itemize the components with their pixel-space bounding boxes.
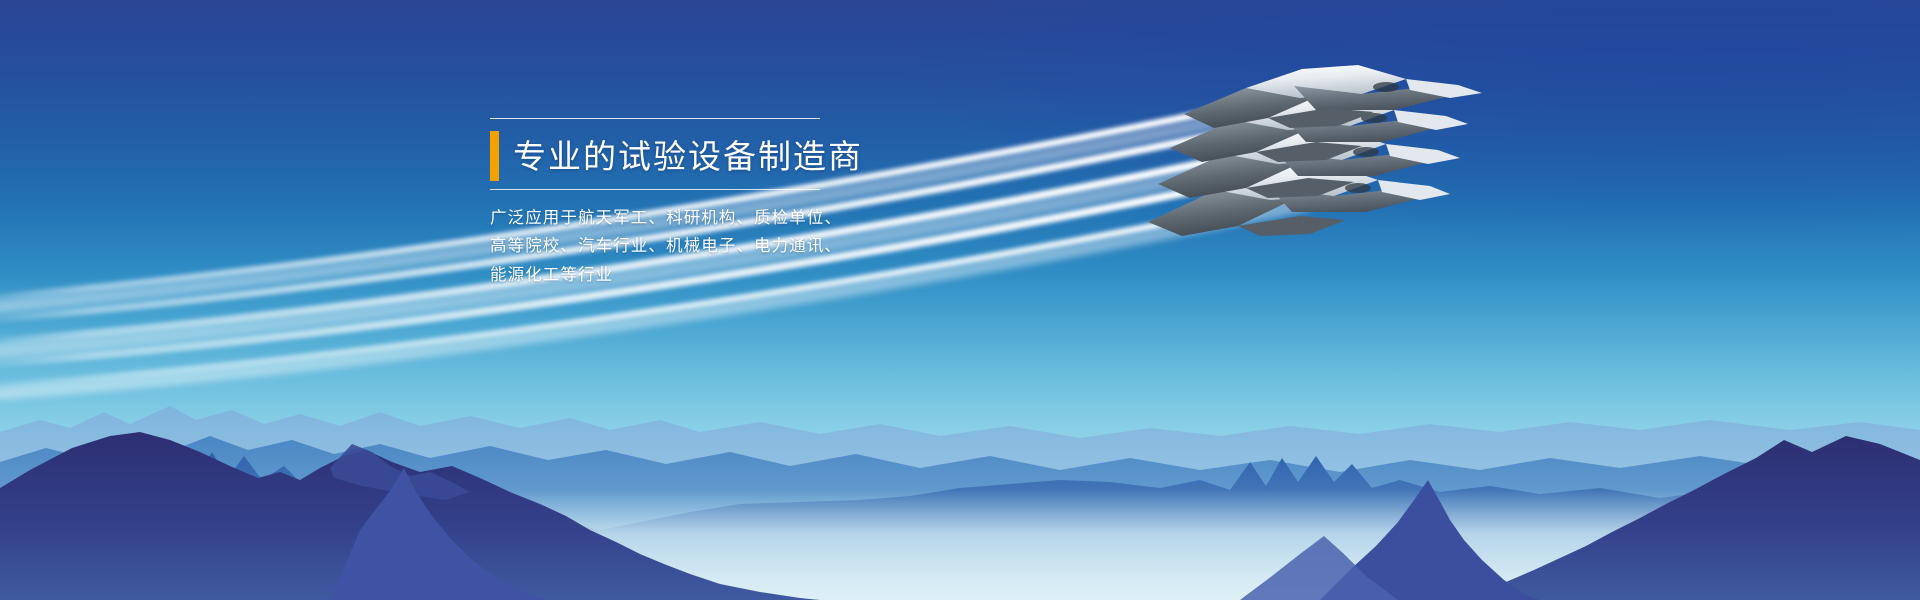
subtitle-line-3: 能源化工等行业	[490, 261, 820, 289]
jet-formation	[1120, 40, 1520, 280]
hero-copy: 专业的试验设备制造商 广泛应用于航天军工、科研机构、质检单位、 高等院校、汽车行…	[390, 118, 820, 289]
subtitle-line-1: 广泛应用于航天军工、科研机构、质检单位、	[490, 204, 820, 232]
subtitle-line-2: 高等院校、汽车行业、机械电子、电力通讯、	[490, 232, 820, 260]
headline-row: 专业的试验设备制造商	[390, 131, 820, 181]
hero-subtitle: 广泛应用于航天军工、科研机构、质检单位、 高等院校、汽车行业、机械电子、电力通讯…	[490, 204, 820, 289]
accent-bar	[490, 131, 499, 181]
mountain-range	[0, 340, 1920, 600]
headline-rule-top	[490, 118, 820, 119]
hero-banner: 专业的试验设备制造商 广泛应用于航天军工、科研机构、质检单位、 高等院校、汽车行…	[0, 0, 1920, 600]
page-title: 专业的试验设备制造商	[513, 140, 863, 173]
headline-rule-bottom	[490, 189, 820, 190]
